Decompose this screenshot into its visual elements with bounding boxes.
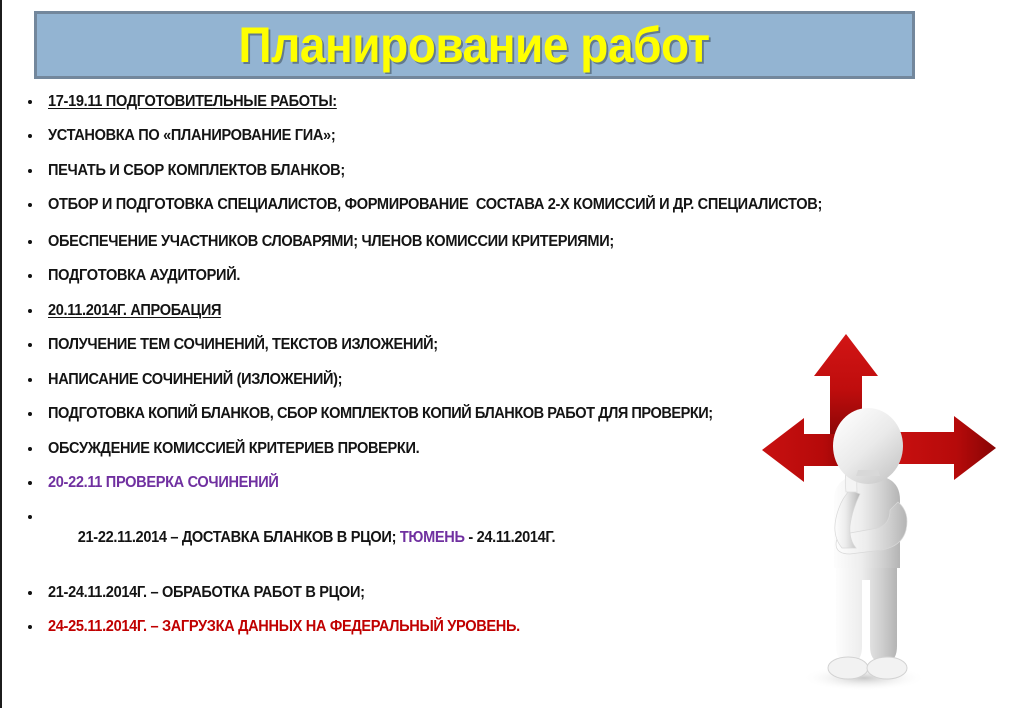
list-item-prep-works-heading: 17-19.11 ПОДГОТОВИТЕЛЬНЫЕ РАБОТЫ: [22, 92, 922, 112]
page-title: Планирование работ [239, 20, 710, 70]
bullet-dot-icon [28, 309, 32, 313]
list-item-prepare-copies: ПОДГОТОВКА КОПИЙ БЛАНКОВ, СБОР КОМПЛЕКТО… [22, 404, 922, 424]
list-item-label: НАПИСАНИЕ СОЧИНЕНИЙ (ИЗЛОЖЕНИЙ); [48, 370, 870, 390]
list-item-label: 24-25.11.2014Г. – ЗАГРУЗКА ДАННЫХ НА ФЕД… [48, 617, 870, 637]
delivery-text-part-3: - 24.11.2014Г. [465, 529, 556, 546]
bullet-dot-icon [28, 203, 32, 207]
delivery-city-tyumen: ТЮМЕНЬ [400, 529, 465, 546]
list-item-print-collect-forms: ПЕЧАТЬ И СБОР КОМПЛЕКТОВ БЛАНКОВ; [22, 161, 922, 181]
list-item-label: ОБСУЖДЕНИЕ КОМИССИЕЙ КРИТЕРИЕВ ПРОВЕРКИ. [48, 439, 870, 459]
bullet-dot-icon [28, 343, 32, 347]
list-item-label: ОТБОР И ПОДГОТОВКА СПЕЦИАЛИСТОВ, ФОРМИРО… [48, 195, 870, 215]
bullet-dot-icon [28, 447, 32, 451]
slide-canvas: Планирование работ 17-19.11 ПОДГОТОВИТЕЛ… [0, 0, 1024, 708]
list-item-label: ПОДГОТОВКА КОПИЙ БЛАНКОВ, СБОР КОМПЛЕКТО… [48, 404, 870, 424]
list-item-label: ПЕЧАТЬ И СБОР КОМПЛЕКТОВ БЛАНКОВ; [48, 161, 870, 181]
list-item-delivery-rcoi: 21-22.11.2014 – ДОСТАВКА БЛАНКОВ В РЦОИ;… [22, 507, 922, 568]
bullet-dot-icon [28, 591, 32, 595]
bullet-dot-icon [28, 481, 32, 485]
figure-shadow [802, 665, 926, 691]
list-item-select-specialists: ОТБОР И ПОДГОТОВКА СПЕЦИАЛИСТОВ, ФОРМИРО… [22, 195, 922, 215]
delivery-text-part-1: 21-22.11.2014 – ДОСТАВКА БЛАНКОВ В РЦОИ; [78, 529, 400, 546]
list-item-label: ОБЕСПЕЧЕНИЕ УЧАСТНИКОВ СЛОВАРЯМИ; ЧЛЕНОВ… [48, 232, 870, 252]
bullet-dot-icon [28, 169, 32, 173]
bullet-list: 17-19.11 ПОДГОТОВИТЕЛЬНЫЕ РАБОТЫ: УСТАНО… [22, 92, 922, 652]
list-item-label: 21-22.11.2014 – ДОСТАВКА БЛАНКОВ В РЦОИ;… [48, 507, 870, 568]
list-item-approbation-heading: 20.11.2014Г. АПРОБАЦИЯ [22, 301, 922, 321]
list-item-federal-upload: 24-25.11.2014Г. – ЗАГРУЗКА ДАННЫХ НА ФЕД… [22, 617, 922, 637]
bullet-dot-icon [28, 378, 32, 382]
bullet-dot-icon [28, 240, 32, 244]
list-item-dictionaries-criteria: ОБЕСПЕЧЕНИЕ УЧАСТНИКОВ СЛОВАРЯМИ; ЧЛЕНОВ… [22, 232, 922, 252]
list-item-label: 20.11.2014Г. АПРОБАЦИЯ [48, 301, 870, 321]
bullet-dot-icon [28, 625, 32, 629]
list-item-essay-check: 20-22.11 ПРОВЕРКА СОЧИНЕНИЙ [22, 473, 922, 493]
list-item-software-install: УСТАНОВКА ПО «ПЛАНИРОВАНИЕ ГИА»; [22, 126, 922, 146]
list-item-label: 17-19.11 ПОДГОТОВИТЕЛЬНЫЕ РАБОТЫ: [48, 92, 870, 112]
list-item-receive-topics: ПОЛУЧЕНИЕ ТЕМ СОЧИНЕНИЙ, ТЕКСТОВ ИЗЛОЖЕН… [22, 335, 922, 355]
list-item-label: УСТАНОВКА ПО «ПЛАНИРОВАНИЕ ГИА»; [48, 126, 870, 146]
bullet-dot-icon [28, 100, 32, 104]
list-item-label: 21-24.11.2014Г. – ОБРАБОТКА РАБОТ В РЦОИ… [48, 583, 870, 603]
title-banner: Планирование работ [34, 11, 915, 79]
list-item-label: ПОЛУЧЕНИЕ ТЕМ СОЧИНЕНИЙ, ТЕКСТОВ ИЗЛОЖЕН… [48, 335, 870, 355]
list-item-processing-rcoi: 21-24.11.2014Г. – ОБРАБОТКА РАБОТ В РЦОИ… [22, 583, 922, 603]
list-item-discuss-criteria: ОБСУЖДЕНИЕ КОМИССИЕЙ КРИТЕРИЕВ ПРОВЕРКИ. [22, 439, 922, 459]
list-item-label: 20-22.11 ПРОВЕРКА СОЧИНЕНИЙ [48, 473, 870, 493]
bullet-dot-icon [28, 274, 32, 278]
list-item-writing-essays: НАПИСАНИЕ СОЧИНЕНИЙ (ИЗЛОЖЕНИЙ); [22, 370, 922, 390]
list-item-prepare-auditoriums: ПОДГОТОВКА АУДИТОРИЙ. [22, 266, 922, 286]
bullet-dot-icon [28, 412, 32, 416]
list-item-label: ПОДГОТОВКА АУДИТОРИЙ. [48, 266, 870, 286]
bullet-dot-icon [28, 515, 32, 519]
bullet-dot-icon [28, 134, 32, 138]
